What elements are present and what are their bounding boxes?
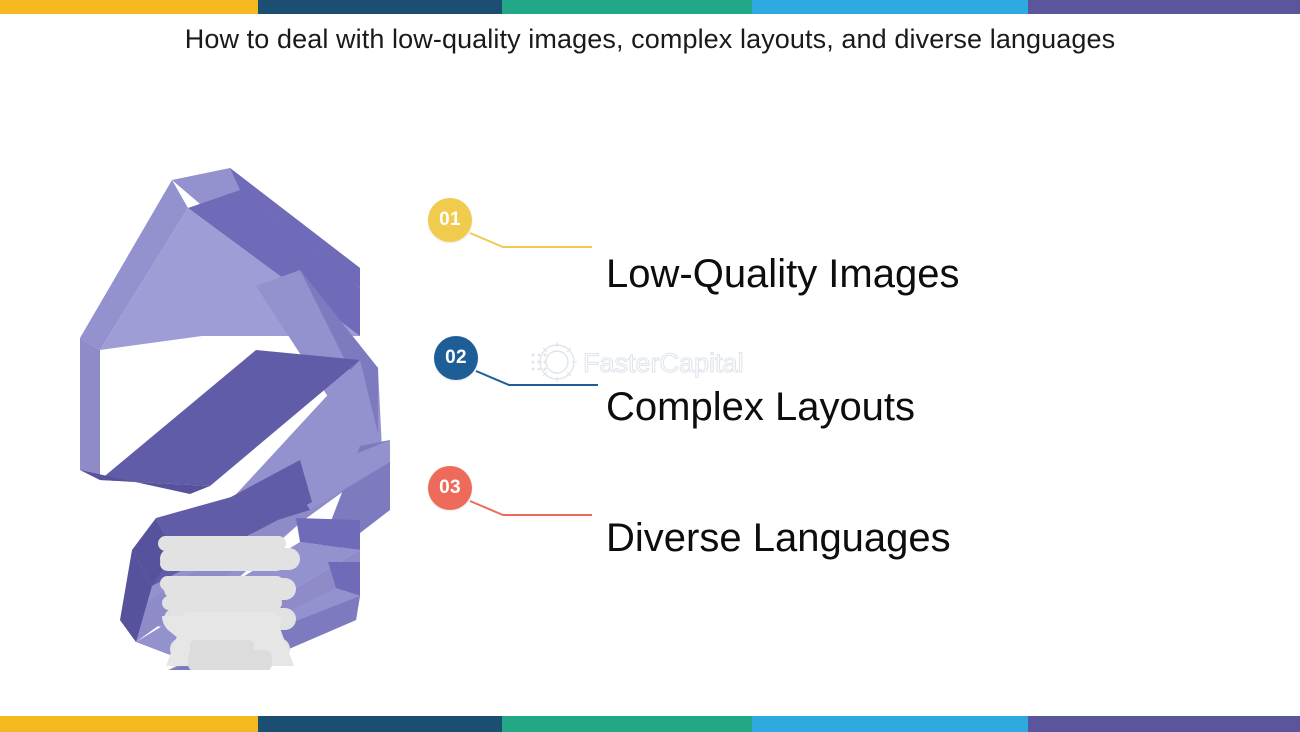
step-badge-01[interactable]: 01 [428, 198, 472, 242]
color-bar-segment-3 [502, 716, 752, 732]
numbered-items-list: 01Low-Quality Images02Complex Layouts03D… [0, 0, 1300, 732]
color-bar-segment-1 [0, 716, 258, 732]
step-label-02: Complex Layouts [606, 387, 915, 427]
connector-lines [0, 0, 1300, 732]
color-bar-segment-4 [752, 716, 1028, 732]
step-badge-03[interactable]: 03 [428, 466, 472, 510]
step-label-01: Low-Quality Images [606, 254, 959, 294]
connector-line-02 [476, 371, 598, 385]
bottom-color-bar [0, 716, 1300, 732]
color-bar-segment-2 [258, 716, 502, 732]
connector-line-01 [470, 233, 592, 247]
step-label-03: Diverse Languages [606, 518, 951, 558]
step-badge-02[interactable]: 02 [434, 336, 478, 380]
color-bar-segment-5 [1028, 716, 1300, 732]
connector-line-03 [470, 501, 592, 515]
